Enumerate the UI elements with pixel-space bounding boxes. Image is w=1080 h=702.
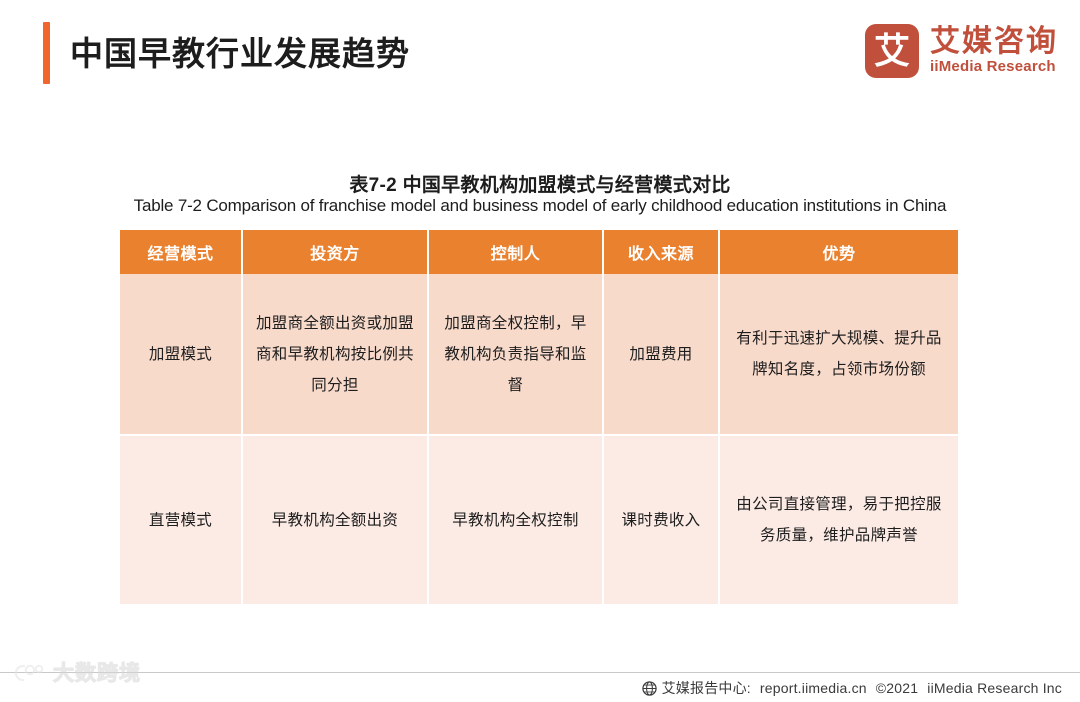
footer-company: iiMedia Research Inc <box>927 680 1062 696</box>
footer-divider <box>0 672 1080 673</box>
watermark-text: 大数跨境 <box>53 663 141 684</box>
cell-mode: 直营模式 <box>120 436 243 604</box>
table-row: 直营模式 早教机构全额出资 早教机构全权控制 课时费收入 由公司直接管理，易于把… <box>120 436 958 604</box>
table-row: 加盟模式 加盟商全额出资或加盟商和早教机构按比例共同分担 加盟商全权控制，早教机… <box>120 274 958 436</box>
watermark-logo-icon <box>14 662 48 684</box>
table-caption-cn: 表7-2 中国早教机构加盟模式与经营模式对比 <box>0 170 1080 197</box>
title-accent-bar <box>43 22 50 84</box>
watermark: 大数跨境 <box>14 662 141 684</box>
cell-controller: 加盟商全权控制，早教机构负责指导和监督 <box>429 274 604 436</box>
cell-revenue: 加盟费用 <box>604 274 720 436</box>
brand-mark-glyph: 艾 <box>865 33 919 69</box>
column-header-investor: 投资方 <box>243 230 429 274</box>
footer-info: 艾媒报告中心: report.iimedia.cn ©2021 iiMedia … <box>642 678 1062 698</box>
column-header-advantage: 优势 <box>720 230 958 274</box>
cell-advantage: 由公司直接管理，易于把控服务质量，维护品牌声誉 <box>720 436 958 604</box>
brand-name-cn: 艾媒咨询 <box>930 26 1058 58</box>
cell-advantage: 有利于迅速扩大规模、提升品牌知名度，占领市场份额 <box>720 274 958 436</box>
footer-report-center-label: 艾媒报告中心: <box>662 678 751 698</box>
footer-copyright: ©2021 <box>876 680 918 696</box>
table-header-row: 经营模式 投资方 控制人 收入来源 优势 <box>120 230 958 274</box>
globe-icon <box>642 681 657 696</box>
brand-name-en: iiMedia Research <box>930 58 1058 76</box>
column-header-mode: 经营模式 <box>120 230 243 274</box>
cell-controller: 早教机构全权控制 <box>429 436 604 604</box>
comparison-table: 经营模式 投资方 控制人 收入来源 优势 加盟模式 加盟商全额出资或加盟商和早教… <box>120 230 958 604</box>
brand-logo: 艾 艾媒咨询 iiMedia Research <box>865 24 1058 78</box>
table-caption-en: Table 7-2 Comparison of franchise model … <box>0 196 1080 216</box>
cell-investor: 加盟商全额出资或加盟商和早教机构按比例共同分担 <box>243 274 429 436</box>
cell-mode: 加盟模式 <box>120 274 243 436</box>
page-title-group: 中国早教行业发展趋势 <box>43 22 410 84</box>
page-title: 中国早教行业发展趋势 <box>70 37 410 70</box>
column-header-revenue: 收入来源 <box>604 230 720 274</box>
page-header: 中国早教行业发展趋势 艾 艾媒咨询 iiMedia Research <box>0 0 1080 112</box>
brand-text: 艾媒咨询 iiMedia Research <box>930 26 1058 76</box>
footer-url[interactable]: report.iimedia.cn <box>760 680 867 696</box>
cell-revenue: 课时费收入 <box>604 436 720 604</box>
brand-mark-icon: 艾 <box>865 24 919 78</box>
cell-investor: 早教机构全额出资 <box>243 436 429 604</box>
column-header-controller: 控制人 <box>429 230 604 274</box>
